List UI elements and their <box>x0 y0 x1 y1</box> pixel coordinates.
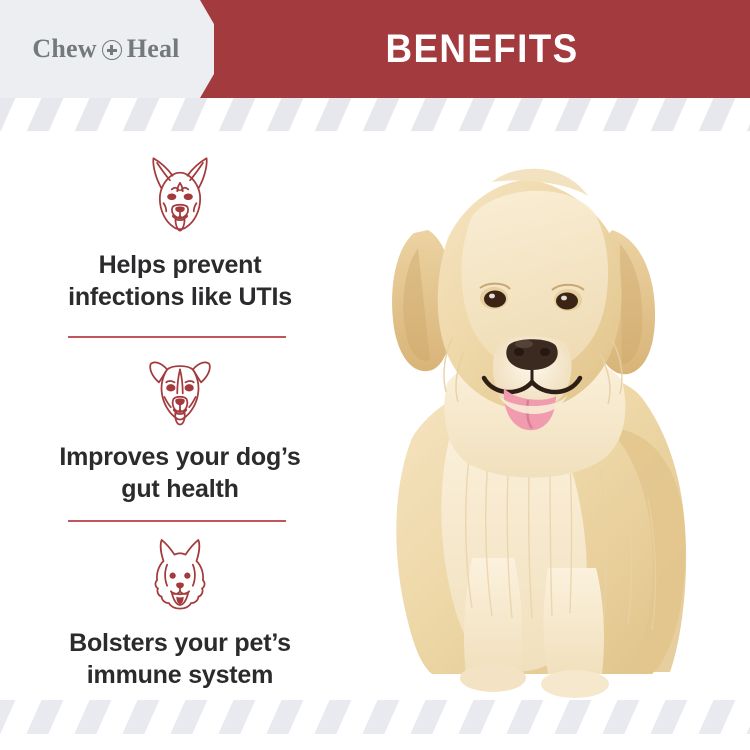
benefit-divider-2 <box>68 520 286 522</box>
benefit-label-2: Improves your dog’s gut health <box>59 442 300 505</box>
stripe <box>741 98 750 131</box>
header-bar: Chew Heal BENEFITS <box>0 0 750 98</box>
stripe <box>597 700 644 734</box>
benefit-label-3-line2: immune system <box>87 661 273 689</box>
stripe <box>453 98 500 131</box>
stripe <box>597 98 644 131</box>
stripe <box>741 700 750 734</box>
golden-retriever-sitting-photo <box>352 138 742 703</box>
brand-logo: Chew Heal <box>32 34 197 64</box>
corgi-dog-head-icon <box>134 150 226 238</box>
brand-name-left: Chew <box>32 34 96 64</box>
stripe <box>549 700 596 734</box>
decorative-stripe-band-bottom <box>0 700 750 734</box>
benefit-label-2-line2: gut health <box>121 475 238 503</box>
stripe <box>645 98 692 131</box>
decorative-stripe-band-top <box>0 98 750 131</box>
stripe <box>501 700 548 734</box>
benefit-label-2-line1: Improves your dog’s <box>59 443 300 471</box>
benefit-label-3: Bolsters your pet’s immune system <box>69 628 291 691</box>
stripe <box>405 700 452 734</box>
benefit-label-1: Helps prevent infections like UTIs <box>68 250 292 313</box>
stripe <box>0 98 19 131</box>
stripe <box>0 700 19 734</box>
stripe <box>357 98 404 131</box>
benefit-label-1-line2: infections like UTIs <box>68 283 292 311</box>
benefits-list: Helps prevent infections like UTIs <box>0 150 360 690</box>
stripe <box>261 700 308 734</box>
stripe <box>549 98 596 131</box>
benefit-divider-1 <box>68 336 286 338</box>
stripe <box>261 98 308 131</box>
stripe <box>693 98 740 131</box>
stripe <box>21 98 68 131</box>
stripe <box>645 700 692 734</box>
stripe <box>453 700 500 734</box>
stripe <box>501 98 548 131</box>
benefits-infographic: Chew Heal BENEFITS <box>0 0 750 750</box>
benefit-item-3: Bolsters your pet’s immune system <box>0 528 360 691</box>
page-title: BENEFITS <box>235 0 728 98</box>
stripe <box>309 700 356 734</box>
stripe <box>693 700 740 734</box>
brand-logo-panel: Chew Heal <box>0 0 230 98</box>
benefit-item-1: Helps prevent infections like UTIs <box>0 150 360 313</box>
stripe <box>117 700 164 734</box>
stripe <box>21 700 68 734</box>
stripe <box>309 98 356 131</box>
terrier-dog-head-icon <box>134 342 226 430</box>
benefit-label-1-line1: Helps prevent <box>99 251 262 279</box>
stripe <box>69 700 116 734</box>
stripe <box>213 98 260 131</box>
stripe <box>405 98 452 131</box>
stripe <box>117 98 164 131</box>
stripe <box>69 98 116 131</box>
brand-name-right: Heal <box>127 34 180 64</box>
stripe <box>165 98 212 131</box>
benefit-label-3-line1: Bolsters your pet’s <box>69 629 291 657</box>
stripe <box>357 700 404 734</box>
stripe <box>213 700 260 734</box>
circled-plus-icon <box>102 40 122 60</box>
stripe <box>165 700 212 734</box>
fluffy-dog-head-icon <box>134 528 226 616</box>
benefit-item-2: Improves your dog’s gut health <box>0 342 360 505</box>
